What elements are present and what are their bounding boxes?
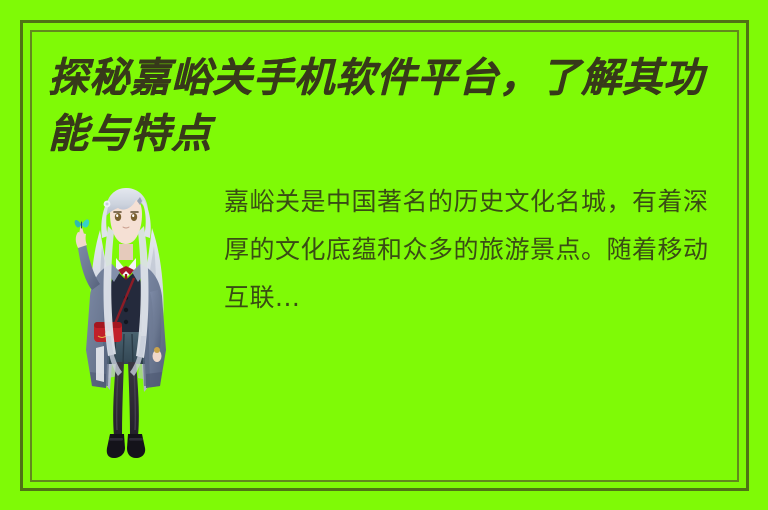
article-card: 探秘嘉峪关手机软件平台，了解其功能与特点 嘉峪关是中国著名的历史文化名城，有着深… <box>0 0 768 510</box>
page-title: 探秘嘉峪关手机软件平台，了解其功能与特点 <box>48 50 740 162</box>
article-body-text: 嘉峪关是中国著名的历史文化名城，有着深厚的文化底蕴和众多的旅游景点。随着移动互联… <box>224 178 724 322</box>
shoe-left <box>107 434 125 458</box>
anime-girl-illustration <box>62 186 190 476</box>
wrist-accessory <box>154 347 160 353</box>
eye-left <box>115 213 121 221</box>
character-artwork <box>62 186 190 476</box>
eye-right <box>131 213 137 221</box>
shoe-right <box>127 434 145 458</box>
butterfly-icon <box>75 219 90 228</box>
